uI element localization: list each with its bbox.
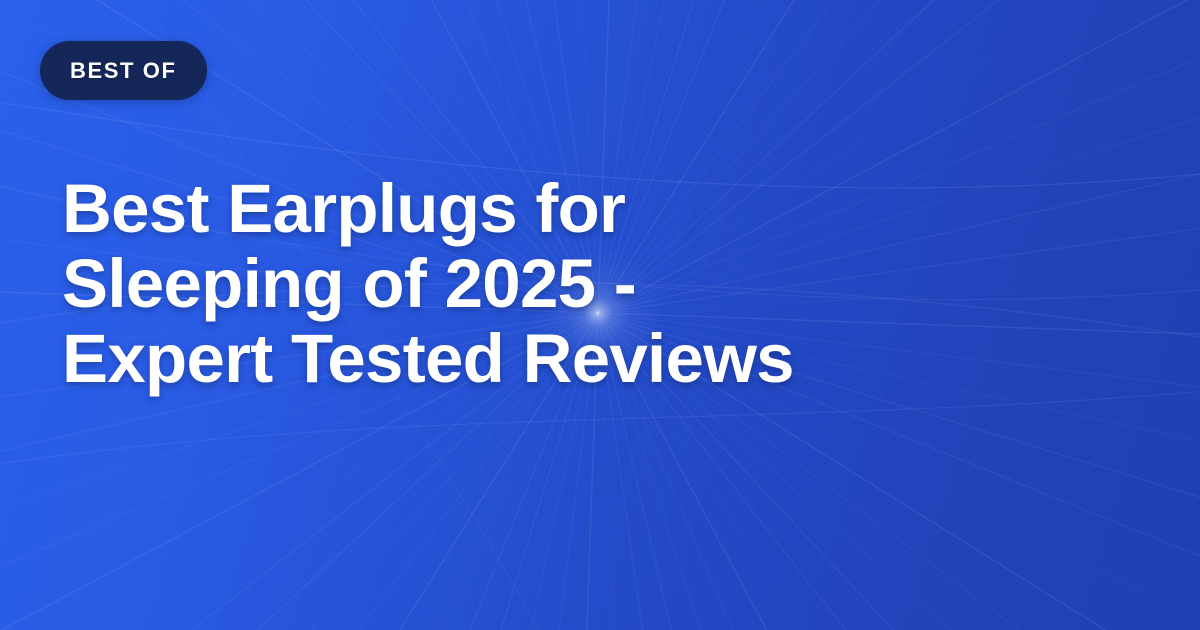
page-title: Best Earplugs for Sleeping of 2025 - Exp… (62, 172, 1122, 397)
page-title-line-1: Best Earplugs for (62, 172, 1122, 247)
page-title-line-2: Sleeping of 2025 - (62, 247, 1122, 322)
page-title-line-3: Expert Tested Reviews (62, 322, 1122, 397)
social-share-card: BEST OF Best Earplugs for Sleeping of 20… (0, 0, 1200, 630)
badge-label: BEST OF (70, 60, 177, 82)
card-content: BEST OF Best Earplugs for Sleeping of 20… (0, 0, 1200, 630)
best-of-badge: BEST OF (40, 41, 207, 100)
